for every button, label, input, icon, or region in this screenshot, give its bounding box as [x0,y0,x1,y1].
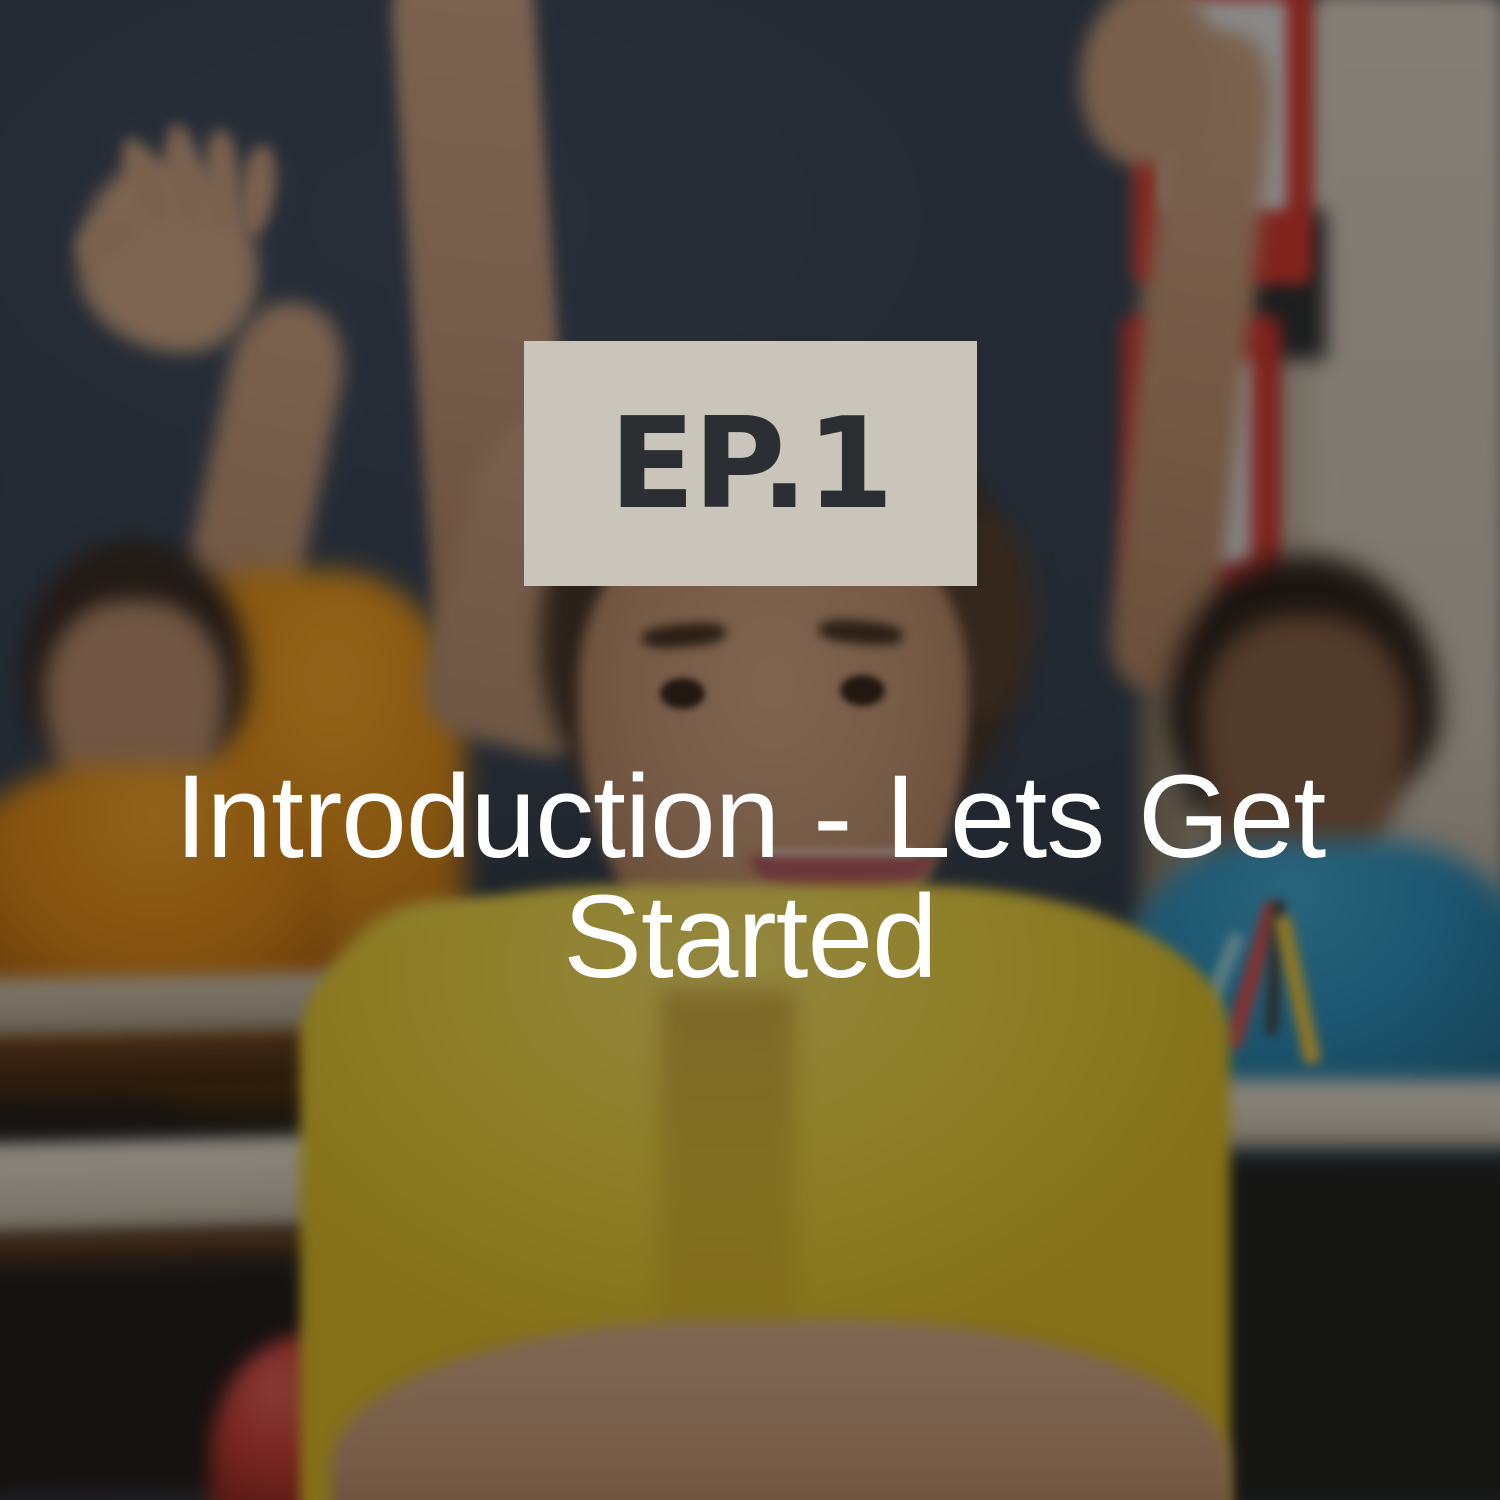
episode-thumbnail-card: EP.1 Introduction - Lets Get Started [0,0,1500,1500]
page-title-line-1: Introduction - Lets Get [175,751,1326,883]
page-title-line-2: Started [563,871,936,1003]
episode-number-badge: EP.1 [524,341,977,586]
page-title: Introduction - Lets Get Started [78,757,1422,998]
episode-number-label: EP.1 [609,401,892,527]
thumbnail-content: EP.1 Introduction - Lets Get Started [0,0,1500,1500]
